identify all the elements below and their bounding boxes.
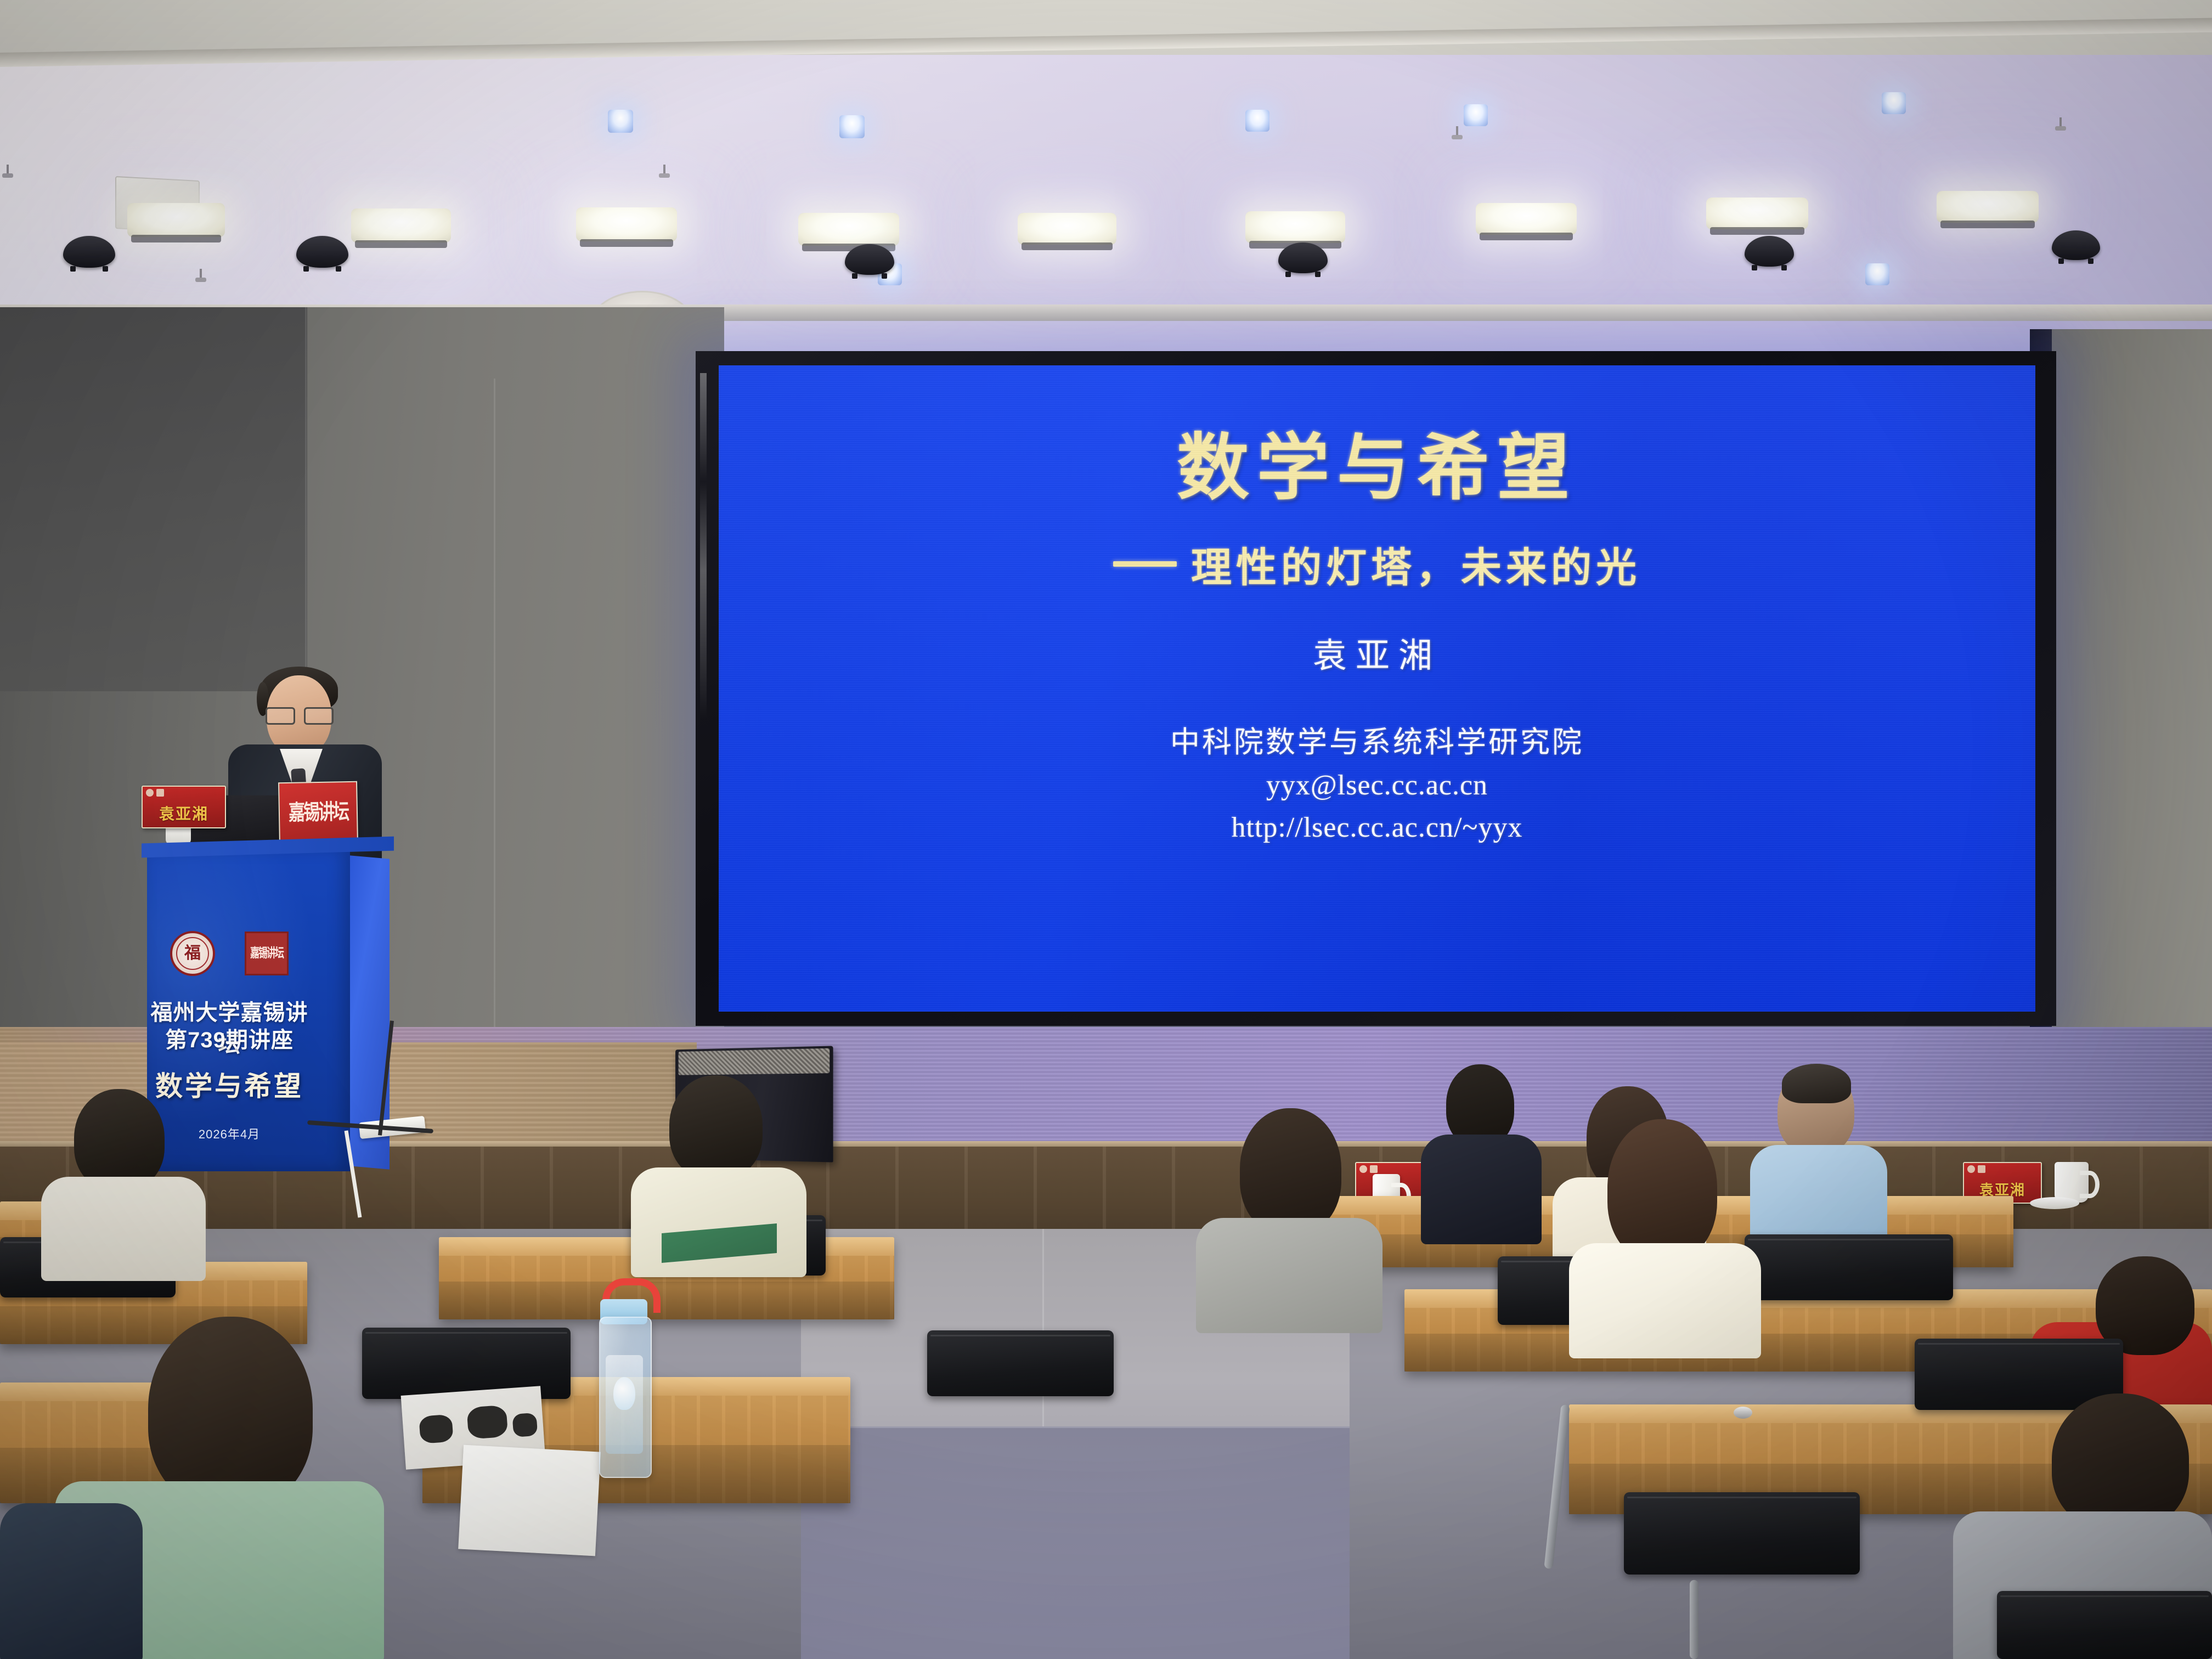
ceiling-panel-light: [1018, 213, 1116, 245]
sprinkler-head-icon: [1454, 126, 1460, 143]
audience-person: [41, 1089, 206, 1276]
ceiling-panel-light: [351, 208, 451, 242]
ceiling-panel-light: [1937, 191, 2039, 223]
audience-chair[interactable]: [927, 1330, 1114, 1396]
glasses-icon: [266, 707, 334, 721]
ceiling-spot-light: [1245, 110, 1269, 132]
ceiling-panel-light: [1706, 198, 1808, 229]
desk-seal-text: 嘉锡讲坛: [289, 803, 348, 824]
person-torso: [631, 1167, 806, 1277]
audience-person: [631, 1075, 806, 1273]
person-head: [148, 1317, 313, 1509]
podium-nameplate: 袁亚湘: [142, 786, 226, 828]
audience-chair[interactable]: [1997, 1591, 2212, 1659]
slide-affiliation: 中科院数学与系统科学研究院: [1170, 720, 1584, 765]
lecture-hall-photo: 数学与希望 理性的灯塔，未来的光 袁亚湘 中科院数学与系统科学研究院 yyx@l…: [0, 0, 2212, 1659]
person-hair: [1782, 1064, 1851, 1103]
audience-chair[interactable]: [1745, 1234, 1953, 1300]
person-head: [74, 1089, 165, 1190]
fzu-seal-icon: 福: [170, 931, 215, 976]
ceiling-panel-light: [1245, 211, 1345, 243]
fzu-seal-text: 福: [184, 945, 201, 962]
floor-tile-line: [801, 1426, 1350, 1428]
wall-seam: [494, 379, 495, 1130]
wall-left-dark-panel: [0, 307, 307, 691]
nameplate-marks-icon: [1967, 1165, 1985, 1173]
ceiling-spot-light: [608, 110, 633, 133]
chair-leg: [1690, 1580, 1699, 1659]
audience-chair[interactable]: [1624, 1492, 1860, 1575]
person-torso: [1196, 1218, 1383, 1333]
podium-logos: 福 嘉锡讲坛: [147, 931, 312, 976]
floor-tile-line: [1042, 1229, 1044, 1426]
slide-subtitle-row: 理性的灯塔，未来的光: [1113, 535, 1641, 594]
ceiling-panel-light: [576, 207, 677, 241]
slide-title: 数学与希望: [1177, 430, 1577, 506]
forum-seal-icon: 嘉锡讲坛: [245, 932, 289, 975]
ceiling-spot-light: [839, 115, 865, 138]
slide-email: yyx@lsec.cc.ac.cn: [1266, 769, 1488, 802]
audience-person: [1421, 1064, 1542, 1240]
podium-banner-line2: 第739期讲座: [147, 1022, 312, 1054]
slide-subtitle-dash: [1113, 561, 1177, 567]
ceiling-panel-light: [127, 203, 225, 237]
person-torso: [41, 1177, 206, 1281]
presentation-screen[interactable]: 数学与希望 理性的灯塔，未来的光 袁亚湘 中科院数学与系统科学研究院 yyx@l…: [719, 365, 2035, 1012]
ceiling-spot-light: [1865, 263, 1889, 285]
person-torso: [1569, 1243, 1761, 1358]
audience-person: [1750, 1067, 1887, 1248]
desk-grommet-icon: [1734, 1407, 1752, 1419]
person-head: [1240, 1108, 1341, 1234]
ceiling-spot-light: [1882, 92, 1906, 114]
person-head: [669, 1075, 763, 1180]
ceiling-panel-light: [798, 213, 899, 246]
audience-person-foreground: [0, 1481, 143, 1659]
sprinkler-head-icon: [4, 165, 11, 181]
forum-seal-text: 嘉锡讲坛: [250, 947, 283, 960]
slide-subtitle-text: 理性的灯塔，未来的光: [1191, 535, 1641, 594]
audience-person: [1196, 1108, 1383, 1328]
audience-person: [1569, 1119, 1761, 1350]
saucer-icon: [2030, 1197, 2079, 1209]
sprinkler-head-icon: [2057, 117, 2064, 134]
ceiling-spot-light: [1464, 104, 1488, 126]
podium-nameplate-text: 袁亚湘: [159, 802, 208, 827]
slide-author: 袁亚湘: [1313, 628, 1441, 677]
sprinkler-head-icon: [198, 269, 204, 285]
slide-url: http://lsec.cc.ac.cn/~yyx: [1231, 811, 1522, 844]
person-torso: [1421, 1135, 1542, 1244]
ceiling-panel-light: [1476, 203, 1577, 235]
mug-icon: [2055, 1162, 2089, 1203]
papers-on-desk: [458, 1445, 601, 1556]
person-torso: [0, 1503, 143, 1659]
desk-apron: [439, 1282, 894, 1319]
person-head: [1607, 1119, 1717, 1262]
bottle-graphic: [606, 1355, 643, 1454]
slide-content: 数学与希望 理性的灯塔，未来的光 袁亚湘 中科院数学与系统科学研究院 yyx@l…: [719, 365, 2035, 1012]
nameplate-marks-icon: [146, 789, 164, 797]
person-head: [2052, 1393, 2189, 1531]
sprinkler-head-icon: [661, 165, 668, 181]
wall-right-panel: [2052, 329, 2212, 1108]
desk-seal-plaque: 嘉锡讲坛: [278, 781, 358, 845]
